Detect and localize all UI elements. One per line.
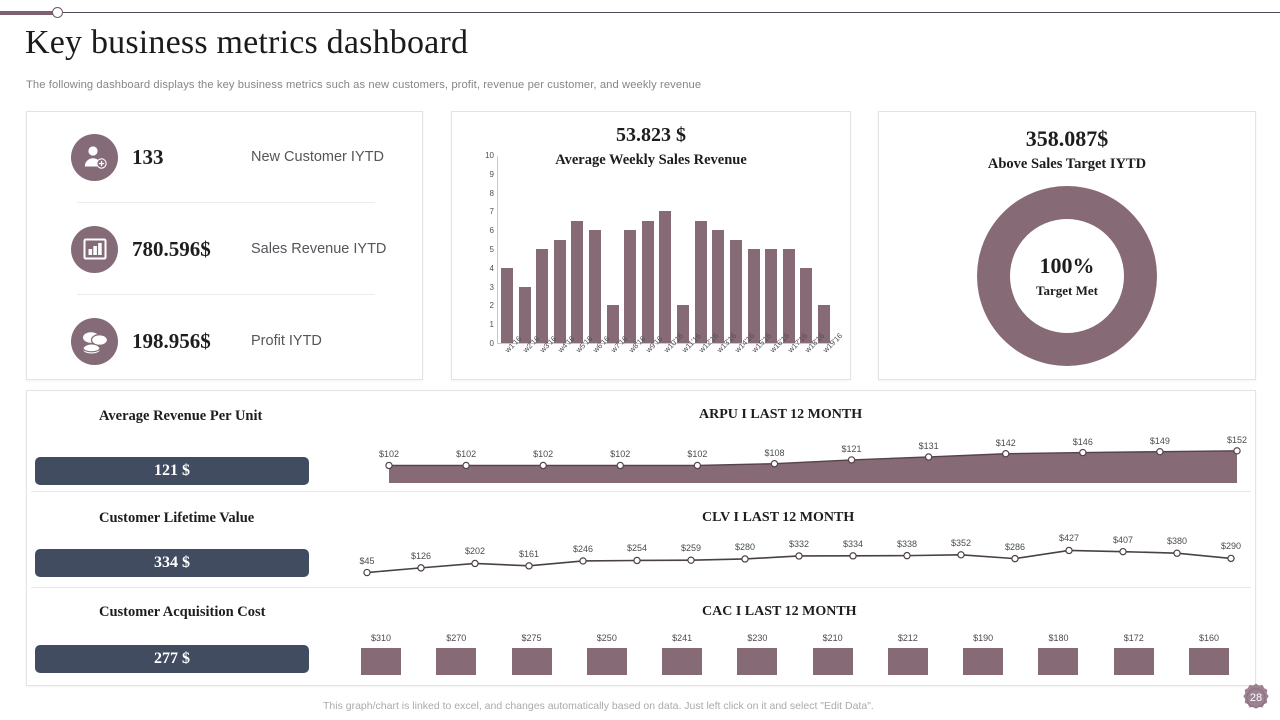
cac-bar [1114,648,1154,675]
cac-bar [361,648,401,675]
arpu-svg [357,417,1247,487]
cac-bar [888,648,928,675]
donut-center: 100% Target Met [1010,219,1124,333]
clv-point-label: $161 [519,549,539,559]
clv-point-label: $427 [1059,533,1079,543]
clv-point-label: $338 [897,539,917,549]
cac-bar-label: $270 [446,633,466,643]
donut-percent: 100% [1040,253,1095,279]
clv-point-label: $332 [789,539,809,549]
cac-bar [512,648,552,675]
weekly-bar [748,249,760,343]
clv-point-label: $246 [573,544,593,554]
cac-bar [587,648,627,675]
donut-center-label: Target Met [1036,283,1098,299]
y-tick-label: 0 [490,340,494,348]
cac-bar [1189,648,1229,675]
cac-bar [436,648,476,675]
y-tick-label: 10 [485,152,494,160]
weekly-bar [783,249,795,343]
page-subtitle: The following dashboard displays the key… [26,79,701,91]
above-target-amount: 358.087$ [879,126,1255,152]
coins-icon [71,318,118,365]
y-tick-label: 3 [490,284,494,292]
clv-point-label: $259 [681,543,701,553]
kpi-row-profit[interactable]: 198.956$ Profit IYTD [27,296,422,386]
arpu-point-label: $152 [1227,435,1247,445]
kpi-divider [77,202,375,203]
clv-point-label: $380 [1167,536,1187,546]
cac-bar-label: $210 [823,633,843,643]
clv-point-label: $286 [1005,542,1025,552]
page-number-badge: 28 [1240,682,1272,714]
kpi-label: Sales Revenue IYTD [251,241,386,257]
weekly-bars-area [497,156,833,344]
cac-bar-label: $180 [1048,633,1068,643]
arpu-point-label: $149 [1150,436,1170,446]
clv-point-label: $290 [1221,541,1241,551]
clv-point-label: $407 [1113,535,1133,545]
weekly-bar [589,230,601,343]
kpi-value: 780.596$ [132,237,211,262]
clv-point-label: $202 [465,546,485,556]
weekly-bar [519,287,531,343]
sales-target-card: 358.087$ Above Sales Target IYTD 100% Ta… [878,111,1256,380]
arpu-point-label: $131 [919,441,939,451]
y-tick-label: 4 [490,265,494,273]
clv-point-label: $352 [951,538,971,548]
kpi-label: New Customer IYTD [251,149,384,165]
clv-point-label: $254 [627,543,647,553]
arpu-title: Average Revenue Per Unit [99,408,262,425]
metrics-detail-card: Average Revenue Per Unit 121 $ ARPU I LA… [26,390,1256,686]
cac-bar [813,648,853,675]
cac-bar-label: $250 [597,633,617,643]
y-tick-label: 5 [490,246,494,254]
cac-bar-label: $160 [1199,633,1219,643]
weekly-bar [712,230,724,343]
weekly-sales-total: 53.823 $ [452,124,850,147]
arpu-point-label: $121 [842,444,862,454]
kpi-label: Profit IYTD [251,333,322,349]
clv-point-label: $126 [411,551,431,561]
arpu-point-label: $102 [533,449,553,459]
arpu-point-label: $108 [764,448,784,458]
cac-bar-label: $172 [1124,633,1144,643]
cac-title: Customer Acquisition Cost [99,604,266,621]
clv-value-pill[interactable]: 334 $ [35,549,309,577]
clv-point-label: $334 [843,539,863,549]
cac-bar-label: $212 [898,633,918,643]
y-tick-label: 7 [490,208,494,216]
y-tick-label: 8 [490,190,494,198]
kpi-summary-card: 133 New Customer IYTD 780.596$ Sales Rev… [26,111,423,380]
weekly-bar [695,221,707,343]
kpi-value: 133 [132,145,164,170]
top-circle-marker-icon [52,7,63,18]
cac-chart-title: CAC I LAST 12 MONTH [702,604,857,620]
weekly-bar [571,221,583,343]
cac-bar-label: $230 [747,633,767,643]
weekly-bar [624,230,636,343]
cac-bar-label: $275 [522,633,542,643]
metric-row-arpu: Average Revenue Per Unit 121 $ ARPU I LA… [27,391,1255,491]
clv-point-label: $280 [735,542,755,552]
kpi-divider [77,294,375,295]
weekly-bar [501,268,513,343]
weekly-bar [659,211,671,343]
top-rule-line [62,12,1280,13]
cac-bar-label: $190 [973,633,993,643]
kpi-row-sales-revenue[interactable]: 780.596$ Sales Revenue IYTD [27,204,422,294]
cac-bar-label: $310 [371,633,391,643]
weekly-y-axis: 109876543210 [478,156,494,344]
cac-value-pill[interactable]: 277 $ [35,645,309,673]
weekly-sales-chart-card: 53.823 $ Average Weekly Sales Revenue 10… [451,111,851,380]
metric-row-cac: Customer Acquisition Cost 277 $ CAC I LA… [27,588,1255,684]
weekly-bar [730,240,742,343]
arpu-area-chart[interactable]: $102$102$102$102$102$108$121$131$142$146… [357,417,1247,487]
y-tick-label: 1 [490,321,494,329]
y-tick-label: 2 [490,302,494,310]
top-accent-segment [0,11,57,15]
above-target-label: Above Sales Target IYTD [879,156,1255,173]
arpu-point-label: $102 [687,449,707,459]
cac-bar [662,648,702,675]
weekly-bar [765,249,777,343]
arpu-point-label: $146 [1073,437,1093,447]
cac-bar-chart[interactable]: $310$270$275$250$241$230$210$212$190$180… [337,622,1247,678]
slide-root: Key business metrics dashboard The follo… [0,0,1280,720]
page-title: Key business metrics dashboard [25,24,468,62]
clv-title: Customer Lifetime Value [99,510,254,527]
kpi-value: 198.956$ [132,329,211,354]
cac-bar [963,648,1003,675]
clv-line-chart[interactable]: $45$126$202$161$246$254$259$280$332$334$… [345,522,1245,584]
arpu-point-label: $142 [996,438,1016,448]
add-user-icon [71,134,118,181]
arpu-point-label: $102 [610,449,630,459]
clv-point-label: $45 [359,556,374,566]
target-donut-chart: 100% Target Met [977,186,1157,366]
arpu-value-pill[interactable]: 121 $ [35,457,309,485]
y-tick-label: 6 [490,227,494,235]
cac-bar-label: $241 [672,633,692,643]
weekly-bar [536,249,548,343]
top-decoration-bar [0,6,1280,20]
cac-bar [1038,648,1078,675]
arpu-point-label: $102 [456,449,476,459]
arpu-point-label: $102 [379,449,399,459]
metric-row-clv: Customer Lifetime Value 334 $ CLV I LAST… [27,492,1255,588]
weekly-bar [642,221,654,343]
bar-chart-icon [71,226,118,273]
page-number: 28 [1240,682,1272,714]
weekly-bar [554,240,566,343]
footer-note: This graph/chart is linked to excel, and… [323,700,874,712]
cac-bar [737,648,777,675]
y-tick-label: 9 [490,171,494,179]
kpi-row-new-customer[interactable]: 133 New Customer IYTD [27,112,422,202]
